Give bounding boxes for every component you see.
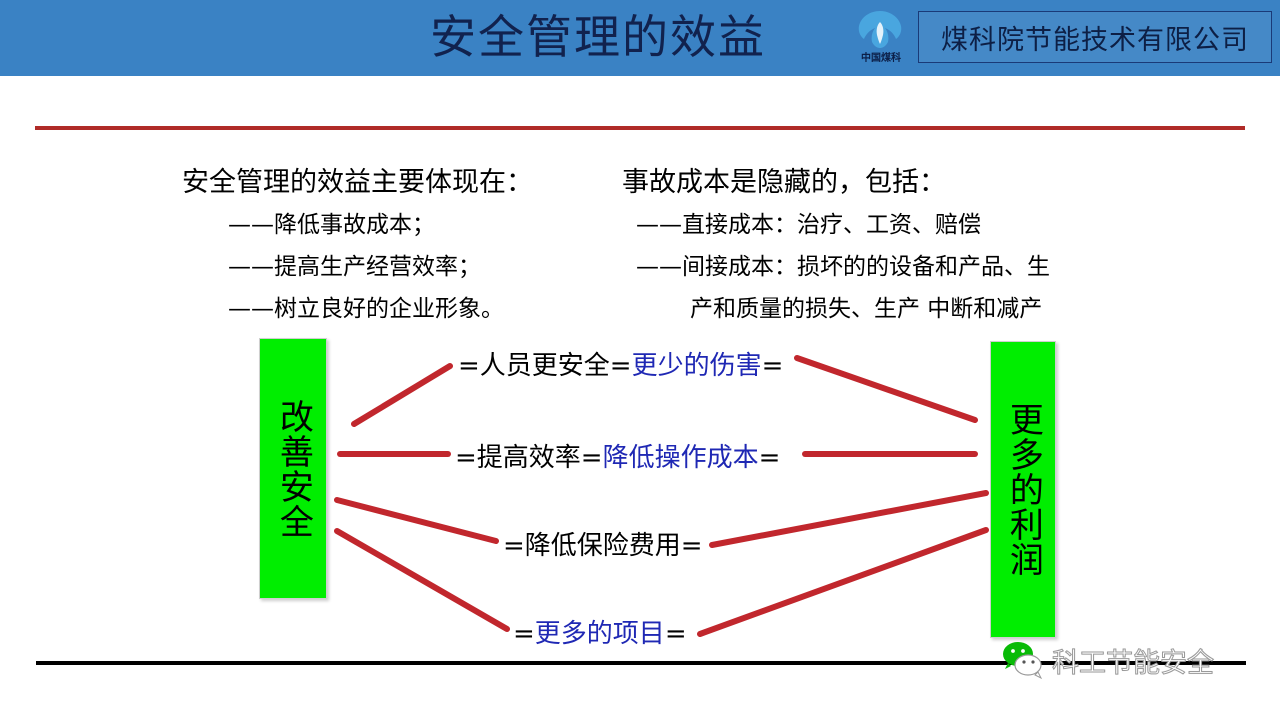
connector-label-4: =更多的项目= xyxy=(513,613,687,650)
connector-label-1: =人员更安全=更少的伤害= xyxy=(458,345,783,382)
connector-4-post: = xyxy=(665,619,687,649)
watermark-label: 科工节能安全 xyxy=(1052,641,1214,680)
connector-2-pre: =提高效率= xyxy=(455,443,603,473)
wire-right-1 xyxy=(797,358,975,420)
connector-label-2: =提高效率=降低操作成本= xyxy=(455,437,780,474)
wire-right-3 xyxy=(712,493,986,545)
connector-1-post: = xyxy=(762,351,784,381)
wire-right-4 xyxy=(700,530,986,634)
connector-4-pre: = xyxy=(513,619,535,649)
more-profit-label: 更多的利润 xyxy=(1006,402,1041,577)
improve-safety-box: 改善安全 xyxy=(259,338,327,599)
connector-1-highlight: 更少的伤害 xyxy=(632,351,762,381)
slide-canvas: 安全管理的效益 中国煤科 煤科院节能技术有限公司 安全管理的效益主要体现在： —… xyxy=(0,0,1280,720)
more-profit-box: 更多的利润 xyxy=(990,341,1056,638)
connector-label-3: =降低保险费用= xyxy=(503,525,703,562)
connector-1-pre: =人员更安全= xyxy=(458,351,632,381)
improve-safety-label: 改善安全 xyxy=(276,399,311,539)
wechat-icon xyxy=(1000,640,1046,680)
footer-watermark: 科工节能安全 xyxy=(1000,640,1214,680)
connector-2-highlight: 降低操作成本 xyxy=(603,443,759,473)
connector-2-post: = xyxy=(759,443,781,473)
wire-left-4 xyxy=(337,531,507,629)
wire-left-1 xyxy=(354,366,450,424)
wire-left-3 xyxy=(337,500,496,541)
connector-4-highlight: 更多的项目 xyxy=(535,619,665,649)
connector-3-pre: =降低保险费用= xyxy=(503,531,703,561)
